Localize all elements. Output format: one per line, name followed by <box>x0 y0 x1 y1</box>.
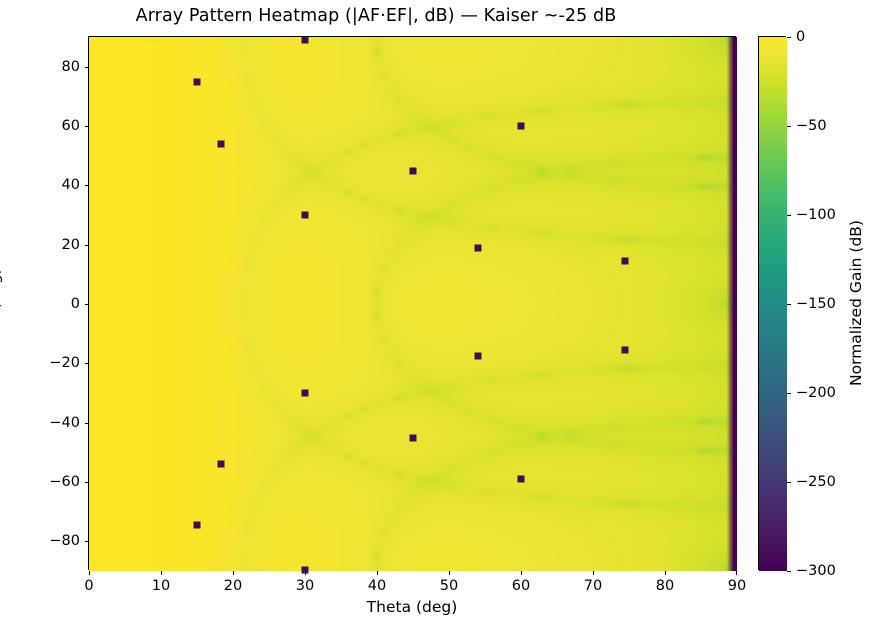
x-tick <box>305 571 306 575</box>
colorbar-label: Normalized Gain (dB) <box>847 220 865 386</box>
y-tick <box>85 423 89 424</box>
colorbar-tick-label: 0 <box>796 29 805 45</box>
x-tick <box>89 571 90 575</box>
colorbar-tick <box>787 482 791 483</box>
null-marker <box>622 257 629 264</box>
figure-canvas: Array Pattern Heatmap (|AF·EF|, dB) — Ka… <box>0 0 885 637</box>
x-axis-label: Theta (deg) <box>88 598 736 616</box>
null-marker <box>194 78 201 85</box>
x-tick <box>449 571 450 575</box>
null-marker <box>194 522 201 529</box>
null-marker <box>302 36 309 43</box>
null-marker-layer <box>89 37 737 571</box>
colorbar-tick-label: −300 <box>796 563 836 579</box>
x-tick <box>233 571 234 575</box>
y-tick-label: −60 <box>49 474 80 490</box>
x-tick-label: 20 <box>224 578 242 594</box>
colorbar-tick <box>787 571 791 572</box>
x-tick-label: 0 <box>84 578 93 594</box>
null-marker <box>518 476 525 483</box>
x-tick-label: 90 <box>728 578 746 594</box>
colorbar-tick-label: −150 <box>796 296 836 312</box>
x-tick-label: 30 <box>296 578 314 594</box>
y-axis-label: Phi (deg) <box>0 268 3 338</box>
y-tick <box>85 304 89 305</box>
y-tick <box>85 482 89 483</box>
y-tick-label: −40 <box>49 415 80 431</box>
x-tick <box>521 571 522 575</box>
heatmap-axes[interactable]: 0102030405060708090 −80−60−40−2002040608… <box>88 36 736 570</box>
colorbar-tick <box>787 304 791 305</box>
colorbar-tick-label: −200 <box>796 385 836 401</box>
x-tick <box>161 571 162 575</box>
colorbar-tick-label: −250 <box>796 474 836 490</box>
null-marker <box>474 352 481 359</box>
colorbar-gradient <box>759 37 787 571</box>
colorbar-tick <box>787 215 791 216</box>
x-tick <box>593 571 594 575</box>
null-marker <box>474 244 481 251</box>
colorbar[interactable]: 0−50−100−150−200−250−300 <box>758 36 786 570</box>
x-tick-label: 70 <box>584 578 602 594</box>
x-tick <box>377 571 378 575</box>
x-tick <box>736 571 737 575</box>
y-tick-label: 0 <box>71 296 80 312</box>
y-tick-label: 40 <box>62 177 80 193</box>
colorbar-tick-label: −50 <box>796 118 827 134</box>
chart-title: Array Pattern Heatmap (|AF·EF|, dB) — Ka… <box>0 6 752 26</box>
colorbar-tick <box>787 393 791 394</box>
y-tick-label: −20 <box>49 355 80 371</box>
y-tick <box>85 541 89 542</box>
y-tick-label: 60 <box>62 118 80 134</box>
null-marker <box>217 140 224 147</box>
x-tick-label: 60 <box>512 578 530 594</box>
y-tick-label: −80 <box>49 533 80 549</box>
x-tick-label: 50 <box>440 578 458 594</box>
null-marker <box>302 212 309 219</box>
null-marker <box>518 123 525 130</box>
null-marker <box>302 390 309 397</box>
y-tick-label: 20 <box>62 237 80 253</box>
y-tick <box>85 67 89 68</box>
y-tick <box>85 363 89 364</box>
null-marker <box>217 461 224 468</box>
y-tick <box>85 126 89 127</box>
colorbar-tick <box>787 126 791 127</box>
null-marker <box>622 346 629 353</box>
y-tick <box>85 185 89 186</box>
null-marker <box>410 167 417 174</box>
x-tick-label: 80 <box>656 578 674 594</box>
colorbar-tick-label: −100 <box>796 207 836 223</box>
x-tick-label: 10 <box>152 578 170 594</box>
y-tick <box>85 245 89 246</box>
null-marker <box>410 434 417 441</box>
x-tick <box>665 571 666 575</box>
colorbar-tick <box>787 37 791 38</box>
x-tick-label: 40 <box>368 578 386 594</box>
y-tick-label: 80 <box>62 59 80 75</box>
